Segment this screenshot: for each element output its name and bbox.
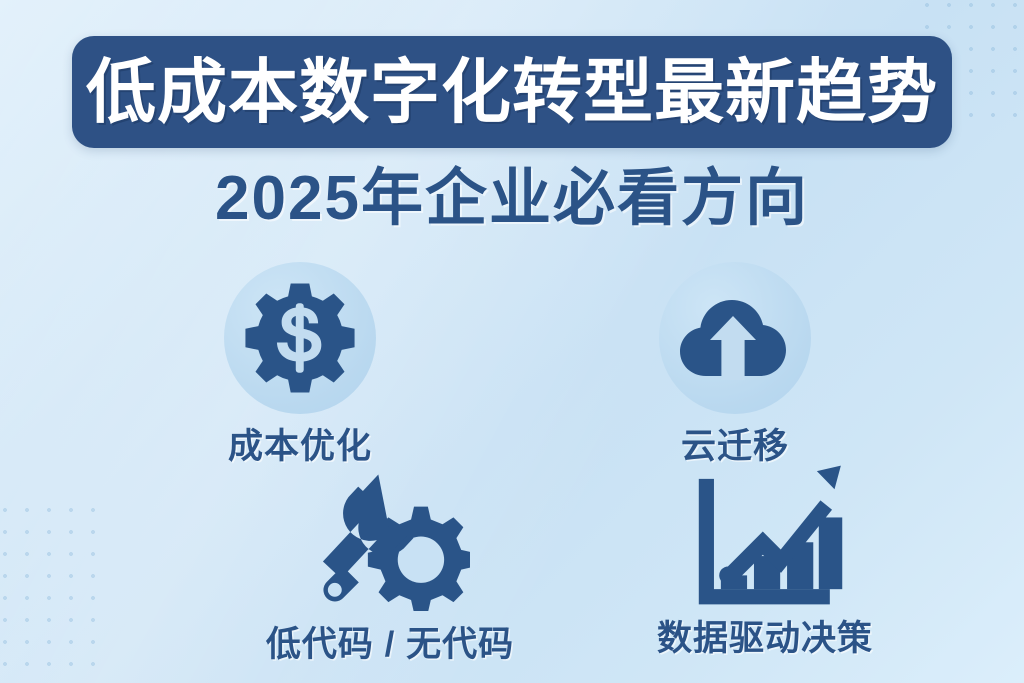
feature-label-data-driven-decisions: 数据驱动决策: [657, 620, 873, 659]
page-title: 低成本数字化转型最新趋势: [86, 57, 938, 127]
feature-cost-optimization: 成本优化: [135, 262, 465, 467]
feature-cloud-migration: 云迁移: [570, 262, 900, 467]
icon-holder-data-driven-decisions: [689, 458, 841, 610]
feature-label-low-code-no-code: 低代码 / 无代码: [266, 626, 514, 665]
feature-label-cost-optimization: 成本优化: [228, 428, 372, 467]
feature-low-code-no-code: 低代码 / 无代码: [225, 464, 555, 665]
gear-dollar-icon: [238, 276, 362, 400]
feature-grid: 成本优化 云迁移: [0, 262, 1024, 683]
icon-disc-cost-optimization: [224, 262, 376, 414]
icon-holder-low-code-no-code: [314, 464, 466, 616]
page-subtitle: 2025年企业必看方向: [0, 166, 1024, 231]
title-banner: 低成本数字化转型最新趋势: [72, 36, 952, 148]
icon-disc-cloud-migration: [659, 262, 811, 414]
feature-data-driven-decisions: 数据驱动决策: [600, 458, 930, 659]
wrench-gear-icon: [310, 469, 470, 611]
bar-chart-arrow-icon: [685, 459, 845, 609]
infographic-poster: 低成本数字化转型最新趋势 2025年企业必看方向 成本优化: [0, 0, 1024, 683]
cloud-upload-icon: [672, 283, 798, 393]
